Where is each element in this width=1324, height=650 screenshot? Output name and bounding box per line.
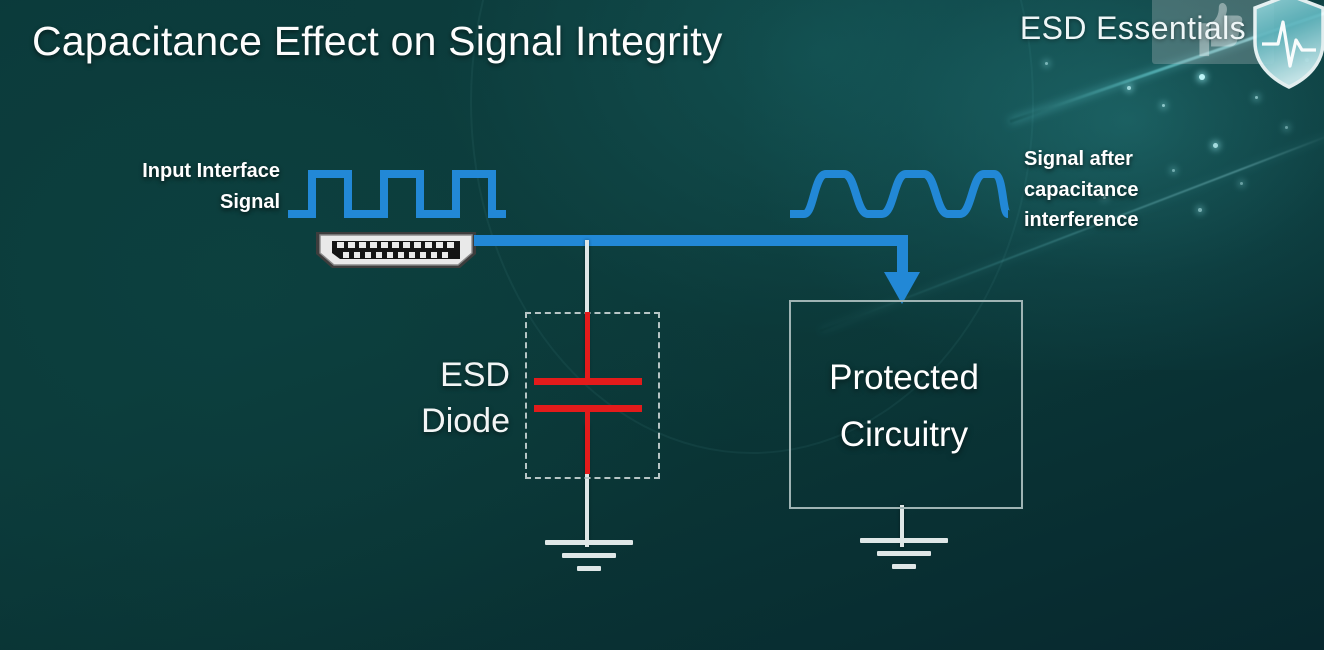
ground-symbol-icon	[545, 540, 633, 574]
protected-circuitry-label-line2: Circuitry	[789, 407, 1019, 464]
output-signal-label-line1: Signal after	[1024, 144, 1274, 175]
output-signal-label-line2: capacitance	[1024, 175, 1274, 206]
page-title: Capacitance Effect on Signal Integrity	[32, 18, 723, 65]
capacitor-lead-top	[585, 312, 590, 378]
capacitor-plate-lower	[534, 405, 642, 412]
particle-dot	[1285, 126, 1288, 129]
esd-diode-dashed-boundary	[525, 312, 660, 479]
esd-diode-label-line2: Diode	[330, 398, 510, 444]
ground-bar-mid	[877, 551, 931, 556]
output-signal-label: Signal after capacitance interference	[1024, 144, 1274, 236]
input-signal-label: Input Interface Signal	[48, 156, 280, 217]
protected-circuitry-label: Protected Circuitry	[789, 350, 1019, 463]
capacitor-lead-bottom	[585, 412, 590, 474]
particle-dot	[1162, 104, 1165, 107]
protected-circuitry-label-line1: Protected	[789, 350, 1019, 407]
particle-dot	[1255, 96, 1258, 99]
output-signal-label-line3: interference	[1024, 205, 1274, 236]
brand-title: ESD Essentials	[1020, 10, 1246, 47]
esd-diode-label: ESD Diode	[330, 352, 510, 444]
capacitor-plate-upper	[534, 378, 642, 385]
input-signal-label-line2: Signal	[48, 187, 280, 218]
signal-trace-horizontal	[474, 235, 908, 246]
output-distorted-waveform	[788, 166, 1010, 222]
particle-dot	[1199, 74, 1205, 80]
shield-pulse-logo-icon	[1250, 0, 1324, 96]
particle-dot	[1127, 86, 1131, 90]
input-square-waveform	[286, 166, 508, 222]
particle-dot	[1045, 62, 1048, 65]
ground-symbol-icon	[860, 538, 948, 572]
ground-bar-wide	[860, 538, 948, 543]
input-signal-label-line1: Input Interface	[48, 156, 280, 187]
ground-bar-narrow	[892, 564, 916, 569]
ground-bar-narrow	[577, 566, 601, 571]
background-decoration	[0, 0, 1324, 650]
slide-canvas: Capacitance Effect on Signal Integrity E…	[0, 0, 1324, 650]
ground-bar-wide	[545, 540, 633, 545]
ground-bar-mid	[562, 553, 616, 558]
hdmi-connector-icon	[310, 228, 482, 272]
esd-diode-label-line1: ESD	[330, 352, 510, 398]
